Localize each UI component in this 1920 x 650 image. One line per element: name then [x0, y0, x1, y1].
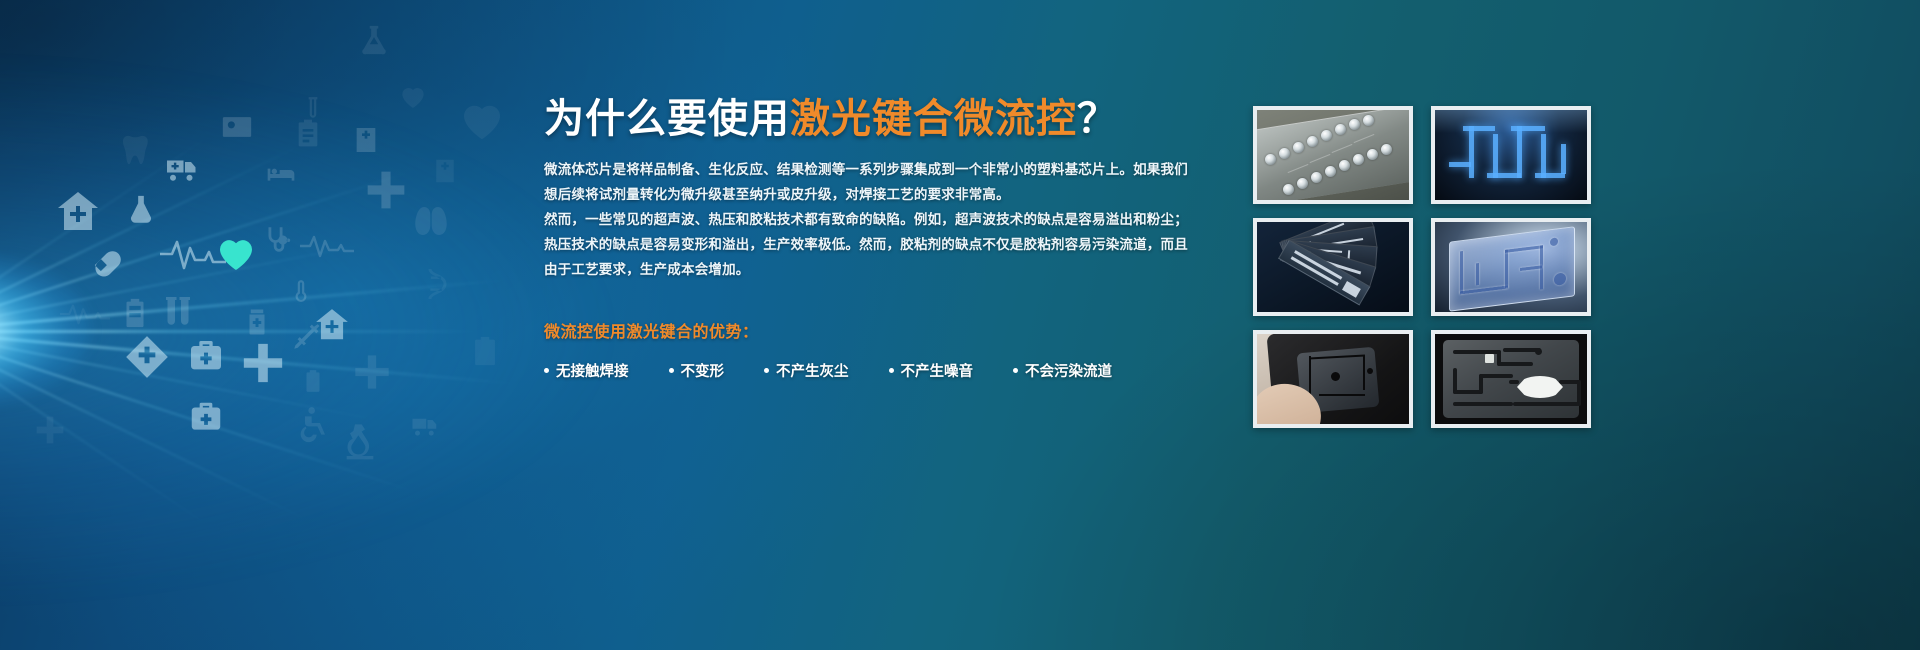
list-item: 不会污染流道: [1013, 360, 1112, 381]
intro-line-2: 想后续将试剂量转化为微升级甚至纳升或皮升级，对焊接工艺的要求非常高。: [544, 182, 1244, 207]
ecg-left-icon: [60, 300, 110, 326]
light-burst: [0, 150, 540, 510]
advantage-label: 无接触焊接: [556, 360, 629, 381]
title-highlight: 激光键合微流控: [790, 97, 1077, 141]
gallery-image-blue-serpentine-microchannel[interactable]: [1431, 106, 1591, 204]
problems-paragraph: 然而，一些常见的超声波、热压和胶粘技术都有致命的缺陷。例如，超声波技术的缺点是容…: [544, 207, 1244, 282]
advantages-list: 无接触焊接 不变形 不产生灰尘 不产生噪音 不会污染流道: [544, 360, 1244, 381]
gallery-image-clear-chip-with-wells[interactable]: [1253, 106, 1413, 204]
kidney-icon: [410, 200, 452, 242]
dna-icon: [418, 262, 454, 306]
left-glow-wash: [0, 60, 620, 600]
flask-bottle-icon: [124, 188, 158, 232]
bullet-dot-icon: [669, 368, 674, 373]
first-aid-kit-icon: [182, 336, 230, 376]
heart-small-icon: [396, 80, 430, 112]
light-core-outer: [0, 255, 90, 405]
problems-line-3: 由于工艺要求，生产成本会增加。: [544, 257, 1244, 282]
banner-root: 为什么要使用激光键合微流控？ 微流体芯片是将样品制备、生化反应、结果检测等一系列…: [0, 0, 1920, 650]
id-card-icon: [215, 110, 259, 144]
cross-bottom-icon: [34, 414, 66, 446]
pill-bottle-icon: [242, 300, 272, 344]
wheelchair-icon: [290, 402, 330, 444]
stethoscope-icon: [258, 222, 300, 264]
battery-faint-icon: [300, 362, 326, 400]
list-item: 不产生灰尘: [764, 360, 849, 381]
advantage-label: 不产生噪音: [901, 360, 974, 381]
advantage-label: 不产生灰尘: [776, 360, 849, 381]
cross-badge-icon: [122, 332, 172, 382]
hospital-bed-icon: [258, 158, 304, 190]
medical-bag-icon: [184, 398, 228, 436]
list-item: 无接触焊接: [544, 360, 629, 381]
hospital-faint-icon: [430, 150, 460, 192]
heart-icon: [210, 228, 262, 276]
bullet-dot-icon: [764, 368, 769, 373]
ecg-icon: [160, 236, 226, 270]
capsule-icon: [86, 242, 130, 286]
cross-faint-icon: [352, 352, 392, 392]
battery-icon: [118, 290, 152, 336]
title-question-mark: ？: [1077, 97, 1118, 141]
thermometer-icon: [288, 268, 314, 314]
hospital-building-icon: [350, 118, 382, 162]
gallery-image-fan-of-dark-microfluidic-chips[interactable]: [1253, 218, 1413, 316]
tooth-icon: [118, 130, 152, 170]
syringe-icon: [288, 320, 324, 356]
gallery-image-transparent-blue-molded-manifold[interactable]: [1431, 218, 1591, 316]
intro-line-1: 微流体芯片是将样品制备、生化反应、结果检测等一系列步骤集成到一个非常小的塑料基芯…: [544, 157, 1244, 182]
bullet-dot-icon: [544, 368, 549, 373]
bullet-dot-icon: [889, 368, 894, 373]
test-tube-pair-icon: [160, 290, 196, 334]
problems-line-1: 然而，一些常见的超声波、热压和胶粘技术都有致命的缺陷。例如，超声波技术的缺点是容…: [544, 207, 1244, 232]
advantages-subheading: 微流控使用激光键合的优势：: [544, 318, 1244, 342]
product-gallery: [1253, 106, 1591, 428]
home-plus-icon: [52, 188, 104, 236]
ambulance-small-icon: [404, 410, 446, 440]
title-lead: 为什么要使用: [544, 97, 790, 141]
problems-line-2: 热压技术的缺点是容易变形和溢出，生产效率极低。然而，胶粘剂的缺点不仅是胶粘剂容易…: [544, 232, 1244, 257]
microscope-icon: [340, 420, 380, 462]
bullet-dot-icon: [1013, 368, 1018, 373]
clipboard-icon: [292, 112, 324, 154]
white-cross-icon: [240, 340, 286, 386]
page-title: 为什么要使用激光键合微流控？: [544, 96, 1244, 143]
list-item: 不产生噪音: [889, 360, 974, 381]
list-item: 不变形: [669, 360, 725, 381]
clipboard-faint-icon: [468, 330, 502, 372]
gallery-image-grey-chip-with-reaction-chamber[interactable]: [1431, 330, 1591, 428]
heart-watermark-icon: [452, 92, 512, 146]
flask-icon: [357, 18, 391, 62]
text-column: 为什么要使用激光键合微流控？ 微流体芯片是将样品制备、生化反应、结果检测等一系列…: [544, 96, 1244, 381]
intro-paragraph: 微流体芯片是将样品制备、生化反应、结果检测等一系列步骤集成到一个非常小的塑料基芯…: [544, 157, 1244, 207]
advantage-label: 不变形: [681, 360, 725, 381]
ecg-small-icon: [300, 232, 354, 258]
gallery-image-hand-holding-black-flexible-chip[interactable]: [1253, 330, 1413, 428]
plus-cross-icon: [364, 168, 408, 212]
advantage-label: 不会污染流道: [1025, 360, 1112, 381]
ambulance-icon: [156, 150, 208, 186]
home-plus-small-icon: [312, 306, 352, 344]
test-tube-icon: [300, 88, 326, 128]
